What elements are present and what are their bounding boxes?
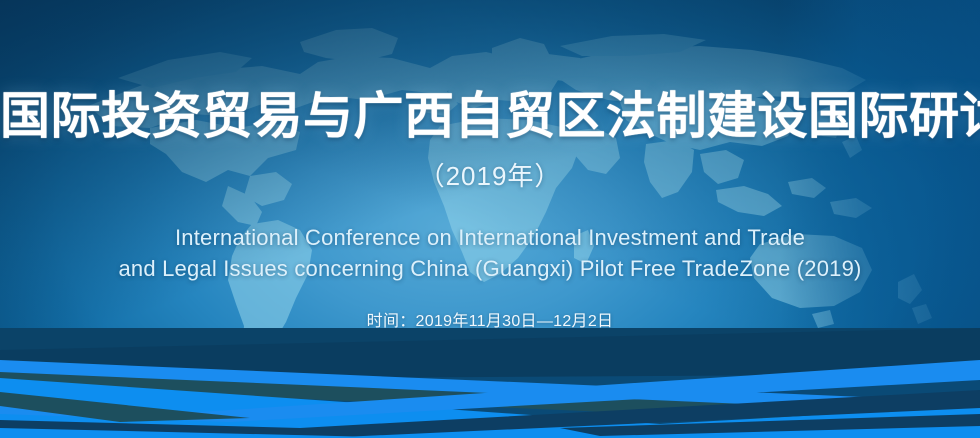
subtitle-english-line-2: and Legal Issues concerning China (Guang…	[0, 253, 980, 284]
page-title: 国际投资贸易与广西自贸区法制建设国际研讨会	[0, 86, 980, 146]
title-year-line: （2019年）	[0, 158, 980, 194]
diagonal-ribbon-decoration	[0, 328, 980, 438]
subtitle-english-line-1: International Conference on Internationa…	[0, 222, 980, 253]
conference-banner: 国际投资贸易与广西自贸区法制建设国际研讨会 （2019年） Internatio…	[0, 0, 980, 438]
subtitle-english: International Conference on Internationa…	[0, 222, 980, 284]
